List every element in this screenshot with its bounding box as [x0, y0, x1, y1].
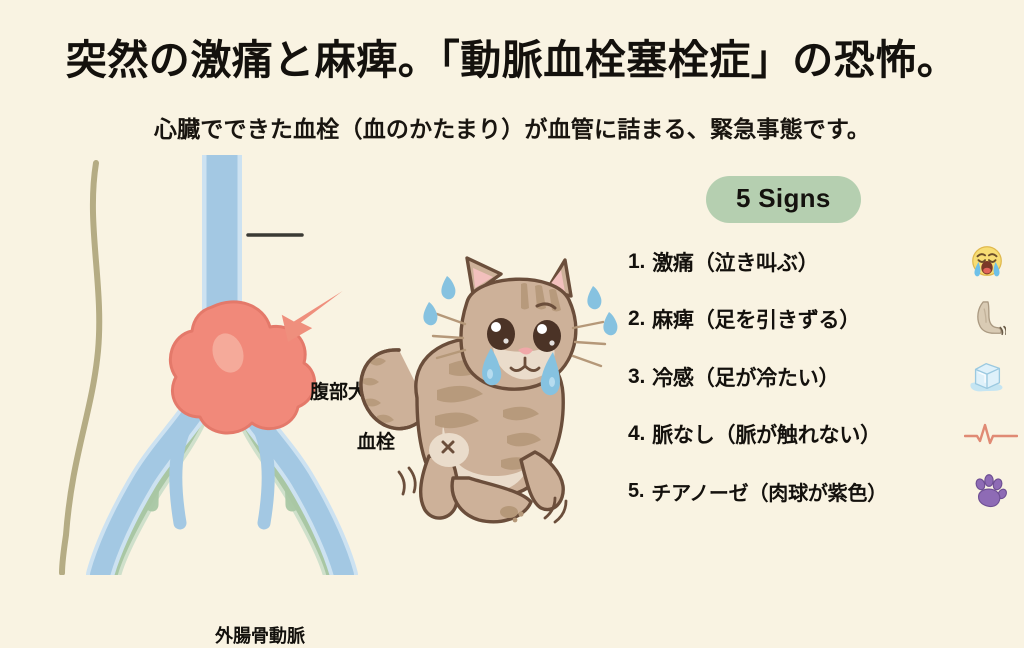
page-title: 突然の激痛と麻痺。「動脈血栓塞栓症」の恐怖。 [0, 38, 1024, 84]
cat-eye-right [533, 320, 561, 352]
crying-face-icon [966, 241, 1008, 283]
crying-cat-illustration [325, 228, 625, 528]
sign-list-item: 1. 激痛（泣き叫ぶ） [628, 239, 1010, 285]
sign-list-item: 2. 麻痺（足を引きずる） [628, 296, 1010, 342]
leg-icon [966, 298, 1008, 340]
sign-label: 激痛（泣き叫ぶ） [652, 247, 818, 277]
ice-cube-icon [966, 356, 1008, 398]
sign-number: 1. [628, 250, 645, 274]
signs-panel: 5 Signs 1. 激痛（泣き叫ぶ） [620, 176, 1010, 516]
sign-label: 麻痺（足を引きずる） [652, 304, 860, 334]
paw-print-icon [968, 470, 1010, 512]
sign-list-item: 3. 冷感（足が冷たい） [628, 354, 1010, 400]
sign-list-item: 4. 脈なし（脈が触れない） [628, 411, 1010, 457]
sign-label: 脈なし（脈が触れない） [652, 419, 881, 449]
pulse-line-icon [964, 413, 1018, 455]
page-subtitle: 心臓でできた血栓（血のかたまり）が血管に詰まる、緊急事態です。 [0, 110, 1024, 144]
sign-number: 3. [628, 365, 645, 389]
sign-label: チアノーゼ（肉球が紫色） [651, 477, 887, 506]
label-external-iliac-artery: 外腸骨動脈 [215, 622, 305, 648]
cat-svg [325, 228, 625, 528]
slide-canvas: 突然の激痛と麻痺。「動脈血栓塞栓症」の恐怖。 心臓でできた血栓（血のかたまり）が… [0, 0, 1024, 576]
sign-number: 4. [628, 422, 645, 446]
sign-label: 冷感（足が冷たい） [652, 362, 839, 392]
cat-eye-left [487, 318, 515, 350]
body-outline-path [62, 163, 99, 573]
sign-list-item: 5. チアノーゼ（肉球が紫色） [628, 468, 1010, 514]
sign-number: 5. [628, 480, 644, 503]
signs-badge: 5 Signs [706, 176, 861, 223]
sign-number: 2. [628, 307, 645, 331]
